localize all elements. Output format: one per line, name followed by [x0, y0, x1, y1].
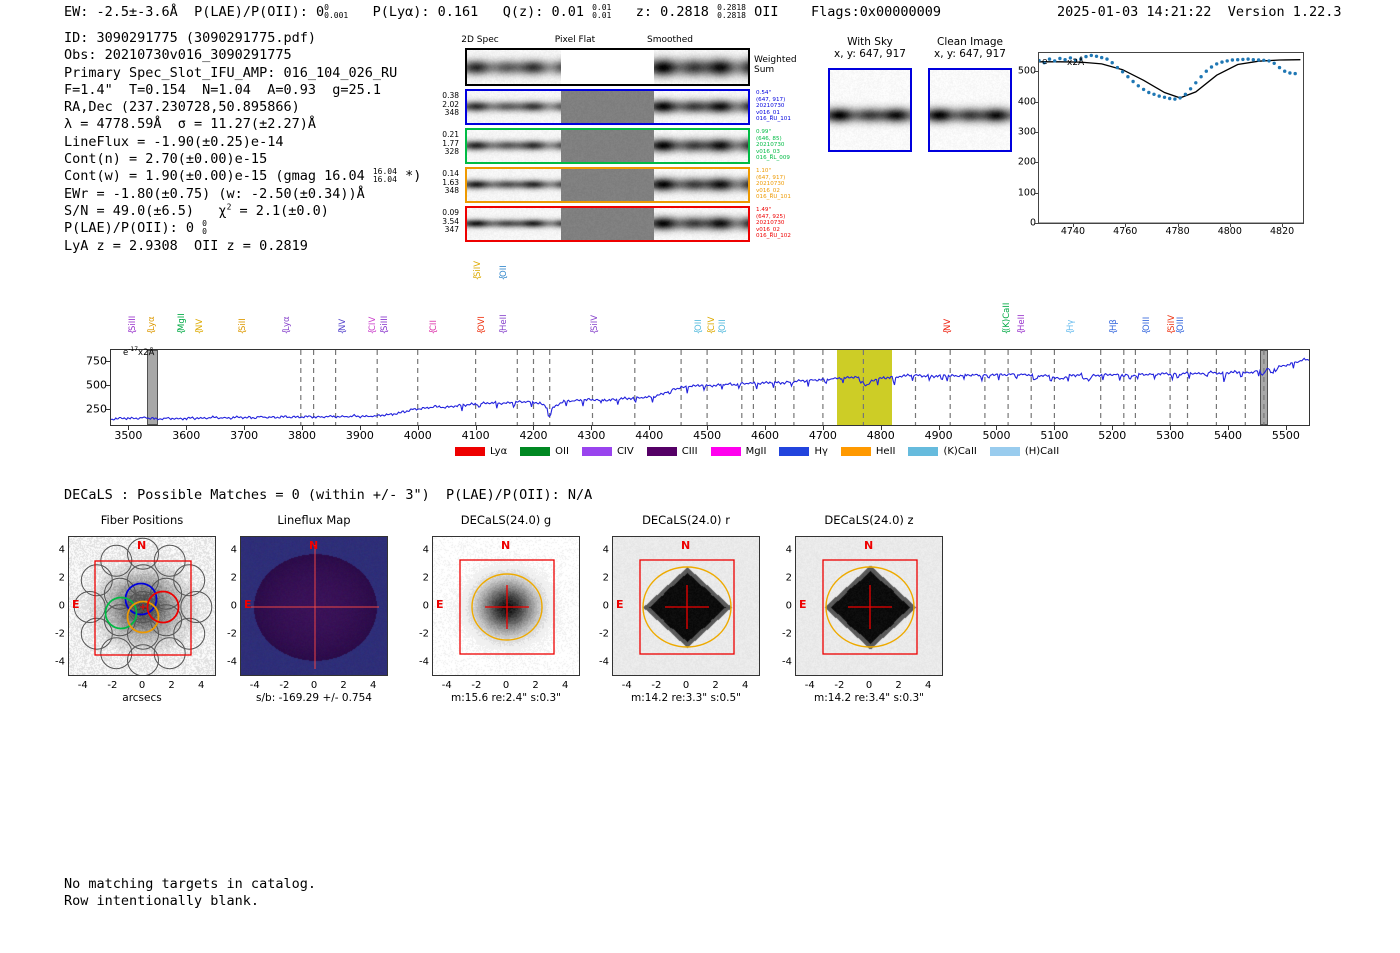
spectrum-xtick: 4700	[809, 429, 837, 442]
emission-xtick-mark	[1230, 223, 1231, 227]
decals-panel-image-2	[432, 536, 580, 676]
info-id: ID: 3090291775 (3090291775.pdf)	[64, 30, 316, 46]
spec2d-right-val: v016_01	[756, 110, 814, 117]
decals-xtick-2-4: 4	[562, 680, 568, 691]
decals-ytick-0-2: 0	[49, 601, 65, 612]
spectrum-line-brace: {	[1017, 329, 1027, 334]
spectrum-xtick-mark	[533, 425, 534, 430]
decals-ytick-0-0: -4	[49, 657, 65, 668]
decals-xtick-0-3: 2	[168, 680, 174, 691]
decals-north-label-0: N	[137, 539, 146, 552]
spec2d-col-title-1: Pixel Flat	[535, 35, 615, 45]
spectrum-legend: LyαOIICIVCIIIMgIIHγHeII(K)CaII(H)CaII	[455, 446, 1072, 459]
spectrum-line-label-CIV: CIV	[368, 297, 378, 331]
decals-ytick-2-2: 0	[413, 601, 429, 612]
spectrum-line-brace: {	[718, 329, 728, 334]
decals-east-label-1: E	[244, 598, 252, 611]
spec2d-right-val: 20210730	[756, 103, 814, 110]
spectrum-line-brace: {	[147, 329, 157, 334]
legend-swatch	[990, 447, 1020, 456]
emission-ytick-mark	[1035, 102, 1039, 103]
spectrum-xtick: 3500	[114, 429, 142, 442]
decals-ytick-2-3: 2	[413, 573, 429, 584]
decals-xtick-2-1: -2	[471, 680, 481, 691]
spectrum-xtick-mark	[186, 425, 187, 430]
spectrum-xtick-mark	[476, 425, 477, 430]
spec2d-right-val: 0.99"	[756, 129, 814, 136]
spec2d-right-val: (646, 85)	[756, 136, 814, 143]
spec2d-right-val: (647, 925)	[756, 214, 814, 221]
spec2d-right-val: 0.54"	[756, 90, 814, 97]
emission-xtick-mark	[1178, 223, 1179, 227]
spec2d-fiber-row-1	[465, 128, 750, 164]
header-qz-range: 0.010.01	[592, 4, 611, 20]
spec2d-right-val: 016_RU_102	[756, 233, 814, 240]
header-ew: EW: -2.5±-3.6Å	[64, 4, 178, 20]
spectrum-line-label-NV: NV	[943, 297, 953, 331]
decals-north-label-4: N	[864, 539, 873, 552]
decals-ytick-3-3: 2	[593, 573, 609, 584]
top-cutout-title-1: Clean Image	[903, 36, 1037, 48]
decals-ytick-4-0: -4	[776, 657, 792, 668]
info-obs: Obs: 20210730v016_3090291775	[64, 47, 292, 63]
spectrum-units-annotation: e-17x2Å	[123, 346, 154, 358]
info-plae-poii: P(LAE)/P(OII): 0 00	[64, 220, 207, 236]
spec2d-cell-r3-c1	[561, 208, 655, 240]
spec2d-right-val: v016_02	[756, 188, 814, 195]
header-z-range: 0.28180.2818	[717, 4, 746, 20]
decals-overlay-2	[433, 537, 580, 676]
spec2d-col-title-0: 2D Spec	[440, 35, 520, 45]
decals-panel-title-1: Lineflux Map	[210, 513, 418, 527]
spectrum-line-label-SiIII: SiIII	[128, 297, 138, 331]
legend-label: OII	[555, 446, 569, 457]
emission-xtick: 4820	[1270, 226, 1294, 237]
decals-xtick-1-1: -2	[279, 680, 289, 691]
legend-item-HCaII: (H)CaII	[990, 446, 1059, 457]
emission-ytick: 100	[1018, 187, 1036, 198]
spectrum-line-label-NV: NV	[195, 297, 205, 331]
spectrum-line-label-OVI: OVI	[477, 297, 487, 331]
footer-note: No matching targets in catalog. Row inte…	[64, 876, 316, 911]
spectrum-line-label-Lyα: Lyα	[147, 297, 157, 331]
decals-xtick-0-2: 0	[139, 680, 145, 691]
spec2d-right-val: 016_RU_101	[756, 194, 814, 201]
spectrum-xtick-mark	[418, 425, 419, 430]
spectrum-xtick: 4100	[462, 429, 490, 442]
spectrum-xtick: 5400	[1214, 429, 1242, 442]
info-gmag-range: 16.0416.04	[373, 168, 397, 184]
spec2d-right-val: 016_RU_101	[756, 116, 814, 123]
spectrum-line-label-SiIV: SiIV	[590, 297, 600, 331]
decals-panel-caption-2: m:15.6 re:2.4" s:0.3"	[402, 692, 610, 704]
info-ewr: EWr = -1.80(±0.75) (w: -2.50(±0.34))Å	[64, 186, 365, 202]
spectrum-dashed-lines	[301, 350, 1264, 425]
legend-item-Hγ: Hγ	[779, 446, 827, 457]
decals-xtick-4-4: 4	[925, 680, 931, 691]
spec2d-weighted-sum-row	[465, 48, 750, 86]
emission-xtick-mark	[1073, 223, 1074, 227]
spectrum-xtick-mark	[1112, 425, 1113, 430]
decals-overlay-1	[241, 537, 388, 676]
spec2d-cell-r0-c1	[561, 91, 655, 123]
spectrum-xtick: 4900	[925, 429, 953, 442]
spectrum-xtick-mark	[244, 425, 245, 430]
legend-item-KCaII: (K)CaII	[908, 446, 976, 457]
spec2d-cell-r2-c1	[561, 169, 655, 201]
spectrum-line-label-CII: CII	[429, 297, 439, 331]
legend-item-Lyα: Lyα	[455, 446, 507, 457]
spectrum-line-brace: {	[368, 329, 378, 334]
legend-swatch	[520, 447, 550, 456]
legend-label: (K)CaII	[943, 446, 976, 457]
spectrum-xtick: 4000	[404, 429, 432, 442]
decals-ytick-3-2: 0	[593, 601, 609, 612]
decals-header: DECaLS : Possible Matches = 0 (within +/…	[64, 487, 592, 503]
spectrum-xtick: 3700	[230, 429, 258, 442]
spec2d-weighted-cell-1	[561, 50, 655, 84]
spectrum-line-brace: {	[282, 329, 292, 334]
spec2d-weighted-sum-label: Weighted Sum	[754, 55, 797, 75]
emission-xtick-mark	[1125, 223, 1126, 227]
spectrum-line-label-MgII: MgII	[177, 297, 187, 331]
info-redshifts: LyA z = 2.9308 OII z = 0.2819	[64, 238, 308, 254]
spectrum-xtick-mark	[765, 425, 766, 430]
decals-ytick-1-1: -2	[221, 629, 237, 640]
decals-east-label-4: E	[799, 598, 807, 611]
decals-xtick-3-4: 4	[742, 680, 748, 691]
emission-xtick-mark	[1282, 223, 1283, 227]
decals-xtick-1-4: 4	[370, 680, 376, 691]
decals-xtick-3-0: -4	[622, 680, 632, 691]
spec2d-right-val: 016_RL_009	[756, 155, 814, 162]
legend-swatch	[647, 447, 677, 456]
info-fwhm-throughput: F=1.4" T=0.154 N=1.04 A=0.93 g=25.1	[64, 82, 381, 98]
header-qz: Q(z): 0.01	[503, 4, 584, 20]
decals-panel-caption-3: m:14.2 re:3.3" s:0.5"	[582, 692, 790, 704]
spectrum-xtick-mark	[881, 425, 882, 430]
legend-swatch	[455, 447, 485, 456]
spectrum-xtick-mark	[649, 425, 650, 430]
spectrum-line-label-HeII: HeII	[499, 297, 509, 331]
spectrum-ytick-mark	[106, 361, 111, 362]
decals-xtick-2-3: 2	[532, 680, 538, 691]
decals-ytick-2-1: -2	[413, 629, 429, 640]
decals-xtick-0-1: -2	[107, 680, 117, 691]
decals-ytick-2-0: -4	[413, 657, 429, 668]
spectrum-line-brace: {	[477, 329, 487, 334]
header-version: Version 1.22.3	[1228, 4, 1342, 20]
emission-xtick: 4780	[1165, 226, 1189, 237]
decals-xtick-2-2: 0	[503, 680, 509, 691]
spectrum-xtick: 5000	[982, 429, 1010, 442]
emission-ytick: 400	[1018, 96, 1036, 107]
decals-ytick-2-4: 4	[413, 545, 429, 556]
spectrum-xtick-mark	[591, 425, 592, 430]
decals-panel-image-3	[612, 536, 760, 676]
spec2d-cell-r1-c0	[467, 130, 561, 162]
decals-xtick-4-1: -2	[834, 680, 844, 691]
decals-overlay-3	[613, 537, 760, 676]
decals-panel-image-4	[795, 536, 943, 676]
spec2d-right-val: (647, 917)	[756, 175, 814, 182]
spectrum-line-label-Hβ: Hβ	[1109, 297, 1119, 331]
spectrum-line-label-Hγ: Hγ	[1066, 297, 1076, 331]
decals-panel-title-4: DECaLS(24.0) z	[765, 513, 973, 527]
spectrum-line-label-Lyα: Lyα	[282, 297, 292, 331]
spectrum-xtick-mark	[823, 425, 824, 430]
spec2d-row-left-labels-0: 0.382.02348	[417, 92, 459, 118]
full-spectrum-plot: 2505007503500360037003800390040004100420…	[110, 349, 1310, 426]
spectrum-xtick-mark	[302, 425, 303, 430]
spec2d-row-right-labels-3: 1.49"(647, 925)20210730v016_02016_RU_102	[756, 207, 814, 240]
top-cutout-subtitle-1: x, y: 647, 917	[903, 48, 1037, 60]
decals-xtick-4-2: 0	[866, 680, 872, 691]
decals-ytick-3-1: -2	[593, 629, 609, 640]
decals-xtick-4-3: 2	[895, 680, 901, 691]
header-plae-poii-label: P(LAE)/P(OII):	[194, 4, 308, 20]
legend-item-HeII: HeII	[841, 446, 896, 457]
spec2d-cell-r0-c0	[467, 91, 561, 123]
decals-ytick-4-4: 4	[776, 545, 792, 556]
spec2d-fiber-row-2	[465, 167, 750, 203]
spec2d-cell-r1-c2	[654, 130, 748, 162]
info-lineflux: LineFlux = -1.90(±0.25)e-14	[64, 134, 283, 150]
spec2d-right-val: 1.49"	[756, 207, 814, 214]
emission-xtick: 4760	[1113, 226, 1137, 237]
spec2d-right-val: v016_03	[756, 149, 814, 156]
spectrum-line-brace: {	[499, 275, 509, 280]
emission-ytick-mark	[1035, 162, 1039, 163]
spectrum-xtick: 3600	[172, 429, 200, 442]
spec2d-col-title-2: Smoothed	[630, 35, 710, 45]
emission-ytick: 300	[1018, 126, 1036, 137]
spectrum-line-brace: {	[1066, 329, 1076, 334]
emission-ytick: 200	[1018, 157, 1036, 168]
info-cont-w: Cont(w) = 1.90(±0.00)e-15 (gmag 16.04 16…	[64, 168, 421, 184]
decals-panel-caption-1: s/b: -169.29 +/- 0.754	[210, 692, 418, 704]
spectrum-xtick-mark	[1054, 425, 1055, 430]
emission-xtick: 4800	[1218, 226, 1242, 237]
spectrum-line-brace: {	[238, 329, 248, 334]
info-plae-range: 00	[202, 220, 207, 236]
header-timestamp-version: 2025-01-03 14:21:22 Version 1.22.3	[1057, 4, 1342, 20]
decals-east-label-0: E	[72, 598, 80, 611]
spectrum-line-brace: {	[195, 329, 205, 334]
decals-north-label-1: N	[309, 539, 318, 552]
decals-ytick-4-2: 0	[776, 601, 792, 612]
decals-xtick-0-0: -4	[78, 680, 88, 691]
legend-label: CIV	[617, 446, 634, 457]
spec2d-cell-r2-c2	[654, 169, 748, 201]
decals-ytick-1-0: -4	[221, 657, 237, 668]
spectrum-xtick: 4200	[519, 429, 547, 442]
decals-north-label-2: N	[501, 539, 510, 552]
spectrum-line-brace: {	[1142, 329, 1152, 334]
legend-item-OII: OII	[520, 446, 569, 457]
decals-xtick-1-0: -4	[250, 680, 260, 691]
spectrum-line-brace: {	[1109, 329, 1119, 334]
decals-panel-image-0	[68, 536, 216, 676]
decals-xtick-3-3: 2	[712, 680, 718, 691]
spectrum-xtick: 4800	[867, 429, 895, 442]
decals-xtick-3-1: -2	[651, 680, 661, 691]
spectrum-line-label-OII: OII	[694, 297, 704, 331]
spec2d-left-val: 348	[417, 109, 459, 118]
decals-ytick-1-4: 4	[221, 545, 237, 556]
spectrum-ytick: 250	[86, 403, 107, 416]
spec2d-right-val: (647, 917)	[756, 97, 814, 104]
decals-north-label-3: N	[681, 539, 690, 552]
spec2d-left-val: 348	[417, 187, 459, 196]
spec2d-row-left-labels-2: 0.141.63348	[417, 170, 459, 196]
spectrum-xtick: 5200	[1098, 429, 1126, 442]
legend-item-CIV: CIV	[582, 446, 634, 457]
spec2d-cell-r0-c2	[654, 91, 748, 123]
spectrum-line-label-NV: NV	[338, 297, 348, 331]
decals-panel-caption-4: m:14.2 re:3.4" s:0.3"	[765, 692, 973, 704]
legend-label: HeII	[876, 446, 896, 457]
spectrum-xtick: 5100	[1040, 429, 1068, 442]
spectrum-line-brace: {	[694, 329, 704, 334]
spectrum-xtick-mark	[939, 425, 940, 430]
decals-ytick-0-1: -2	[49, 629, 65, 640]
spectrum-line-brace: {	[943, 329, 953, 334]
spectrum-line-brace: {	[338, 329, 348, 334]
spec2d-row-right-labels-2: 1.10"(647, 917)20210730v016_02016_RU_101	[756, 168, 814, 201]
spectrum-line-brace: {	[1176, 329, 1186, 334]
spectrum-ytick: 500	[86, 379, 107, 392]
spec2d-cell-r2-c0	[467, 169, 561, 201]
decals-overlay-0	[69, 537, 216, 676]
spec2d-row-right-labels-0: 0.54"(647, 917)20210730v016_01016_RU_101	[756, 90, 814, 123]
decals-ytick-4-1: -2	[776, 629, 792, 640]
decals-ytick-3-0: -4	[593, 657, 609, 668]
spectrum-xtick: 4500	[693, 429, 721, 442]
legend-swatch	[779, 447, 809, 456]
legend-swatch	[908, 447, 938, 456]
legend-label: MgII	[746, 446, 767, 457]
emission-line-fit-plot: ex2Å010020030040050047404760478048004820	[1038, 52, 1304, 224]
spectrum-line-label-CIV: CIV	[707, 297, 717, 331]
spectrum-xtick-mark	[1228, 425, 1229, 430]
decals-ytick-1-2: 0	[221, 601, 237, 612]
spec2d-cell-r1-c1	[561, 130, 655, 162]
spectrum-line-brace: {	[590, 329, 600, 334]
spectrum-line-brace: {	[1002, 329, 1012, 334]
header-z-kind: OII	[754, 4, 778, 20]
emission-units-annotation-2: x2Å	[1067, 58, 1084, 68]
decals-panel-image-1	[240, 536, 388, 676]
spectrum-line-brace: {	[128, 329, 138, 334]
spectrum-line-label-OIII: OIII	[1142, 297, 1152, 331]
spec2d-right-val: 1.10"	[756, 168, 814, 175]
spectrum-line-label-OII: OII	[718, 297, 728, 331]
spec2d-right-val: 20210730	[756, 142, 814, 149]
legend-item-CIII: CIII	[647, 446, 698, 457]
spec2d-left-val: 347	[417, 226, 459, 235]
legend-item-MgII: MgII	[711, 446, 767, 457]
spec2d-left-val: 328	[417, 148, 459, 157]
decals-panel-title-3: DECaLS(24.0) r	[582, 513, 790, 527]
legend-swatch	[582, 447, 612, 456]
spectrum-xtick: 4600	[751, 429, 779, 442]
info-primary-spec-slot: Primary Spec_Slot_IFU_AMP: 016_104_026_R…	[64, 65, 397, 81]
spectrum-line-brace: {	[380, 329, 390, 334]
spec2d-row-right-labels-1: 0.99"(646, 85)20210730v016_03016_RL_009	[756, 129, 814, 162]
spectrum-xtick: 4400	[635, 429, 663, 442]
header-plae-poii-range: 00.001	[324, 4, 348, 20]
spectrum-line-label-SiII: SiII	[238, 297, 248, 331]
spec2d-fiber-row-3	[465, 206, 750, 242]
spec2d-weighted-cell-2	[654, 50, 748, 84]
header-z: z: 0.2818	[636, 4, 709, 20]
spectrum-svg	[111, 350, 1309, 425]
info-sn-chi2: S/N = 49.0(±6.5) χ2 = 2.1(±0.0)	[64, 203, 329, 219]
spectrum-trace	[111, 358, 1309, 420]
emission-units-annotation: e	[1042, 57, 1048, 67]
spec2d-right-val: 20210730	[756, 220, 814, 227]
decals-xtick-1-2: 0	[311, 680, 317, 691]
info-cont-n: Cont(n) = 2.70(±0.00)e-15	[64, 151, 267, 167]
decals-xtick-4-0: -4	[805, 680, 815, 691]
emission-ytick-mark	[1035, 132, 1039, 133]
spectrum-xtick: 3900	[346, 429, 374, 442]
decals-east-label-2: E	[436, 598, 444, 611]
legend-swatch	[711, 447, 741, 456]
emission-ytick-mark	[1035, 223, 1039, 224]
spectrum-xtick-mark	[360, 425, 361, 430]
legend-label: CIII	[682, 446, 698, 457]
header-datetime: 2025-01-03 14:21:22	[1057, 4, 1211, 20]
decals-ytick-1-3: 2	[221, 573, 237, 584]
legend-swatch	[841, 447, 871, 456]
spec2d-right-val: 20210730	[756, 181, 814, 188]
spec2d-cell-r3-c2	[654, 208, 748, 240]
spec2d-weighted-cell-0	[467, 50, 561, 84]
legend-label: (H)CaII	[1025, 446, 1059, 457]
spectrum-line-label-OIII: OIII	[1176, 297, 1186, 331]
spectrum-line-label-KCaII: (K)CaII	[1002, 297, 1012, 331]
source-info-block: ID: 3090291775 (3090291775.pdf) Obs: 202…	[64, 30, 421, 255]
spectrum-xtick-mark	[707, 425, 708, 430]
spectrum-line-brace: {	[473, 275, 483, 280]
spec2d-right-val: v016_02	[756, 227, 814, 234]
decals-east-label-3: E	[616, 598, 624, 611]
spec2d-cell-r3-c0	[467, 208, 561, 240]
decals-xtick-1-3: 2	[340, 680, 346, 691]
spectrum-xtick-mark	[996, 425, 997, 430]
emission-fit-svg	[1039, 53, 1303, 223]
legend-label: Hγ	[814, 446, 827, 457]
spectrum-line-label-SiIV: SiIV	[473, 243, 483, 277]
spectrum-line-label-OII: OII	[499, 243, 509, 277]
top-cutout-image-0	[828, 68, 912, 152]
spectrum-line-brace: {	[499, 329, 509, 334]
spectrum-ytick-mark	[106, 385, 111, 386]
info-wavelength-sigma: λ = 4778.59Å σ = 11.27(±2.27)Å	[64, 116, 316, 132]
spectrum-xtick-mark	[1286, 425, 1287, 430]
spectrum-line-brace: {	[707, 329, 717, 334]
decals-ytick-3-4: 4	[593, 545, 609, 556]
spectrum-line-label-SiIII: SiIII	[380, 297, 390, 331]
emission-xtick: 4740	[1061, 226, 1085, 237]
legend-label: Lyα	[490, 446, 507, 457]
spectrum-line-brace: {	[177, 329, 187, 334]
decals-panel-title-2: DECaLS(24.0) g	[402, 513, 610, 527]
spectrum-xtick: 5500	[1272, 429, 1300, 442]
spectrum-ytick-mark	[106, 409, 111, 410]
